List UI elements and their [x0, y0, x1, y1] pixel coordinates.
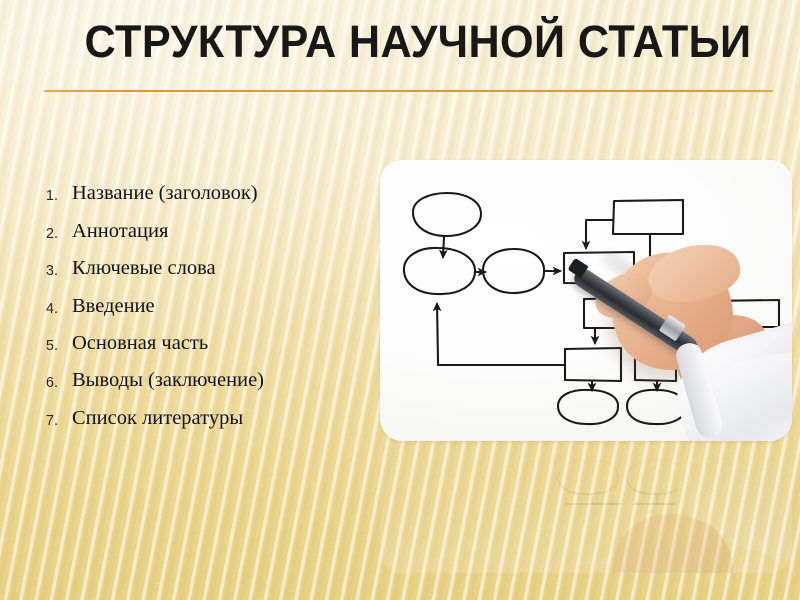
list-item: 2. Аннотация [0, 204, 372, 241]
list-item: 5. Основная часть [0, 317, 372, 354]
structure-list: 1. Название (заголовок) 2. Аннотация 3. … [0, 167, 372, 429]
title-divider-rule [44, 90, 773, 92]
hand-with-marker [380, 160, 792, 441]
list-item-number: 6. [0, 375, 60, 391]
list-item-number: 4. [0, 301, 60, 317]
list-item-number: 3. [0, 263, 60, 279]
list-item-label: Список литературы [60, 407, 243, 429]
list-item-label: Основная часть [60, 332, 208, 354]
list-item-label: Выводы (заключение) [60, 369, 264, 391]
slide: СТРУКТУРА НАУЧНОЙ СТАТЬИ 1. Название (за… [0, 0, 800, 600]
whiteboard-photo [380, 160, 792, 441]
list-item: 7. Список литературы [0, 391, 372, 428]
photo-reflection [380, 443, 792, 573]
list-item-number: 1. [0, 188, 60, 204]
photo-frame [380, 160, 792, 441]
list-item-label: Введение [60, 295, 155, 317]
list-item: 6. Выводы (заключение) [0, 354, 372, 391]
list-item: 4. Введение [0, 279, 372, 316]
list-item-label: Ключевые слова [60, 257, 216, 279]
list-item-number: 7. [0, 413, 60, 429]
list-item: 3. Ключевые слова [0, 242, 372, 279]
page-title: СТРУКТУРА НАУЧНОЙ СТАТЬИ [76, 18, 760, 66]
list-item: 1. Название (заголовок) [0, 167, 372, 204]
list-item-number: 5. [0, 338, 60, 354]
list-item-number: 2. [0, 226, 60, 242]
list-item-label: Аннотация [60, 220, 168, 242]
list-item-label: Название (заголовок) [60, 182, 258, 204]
